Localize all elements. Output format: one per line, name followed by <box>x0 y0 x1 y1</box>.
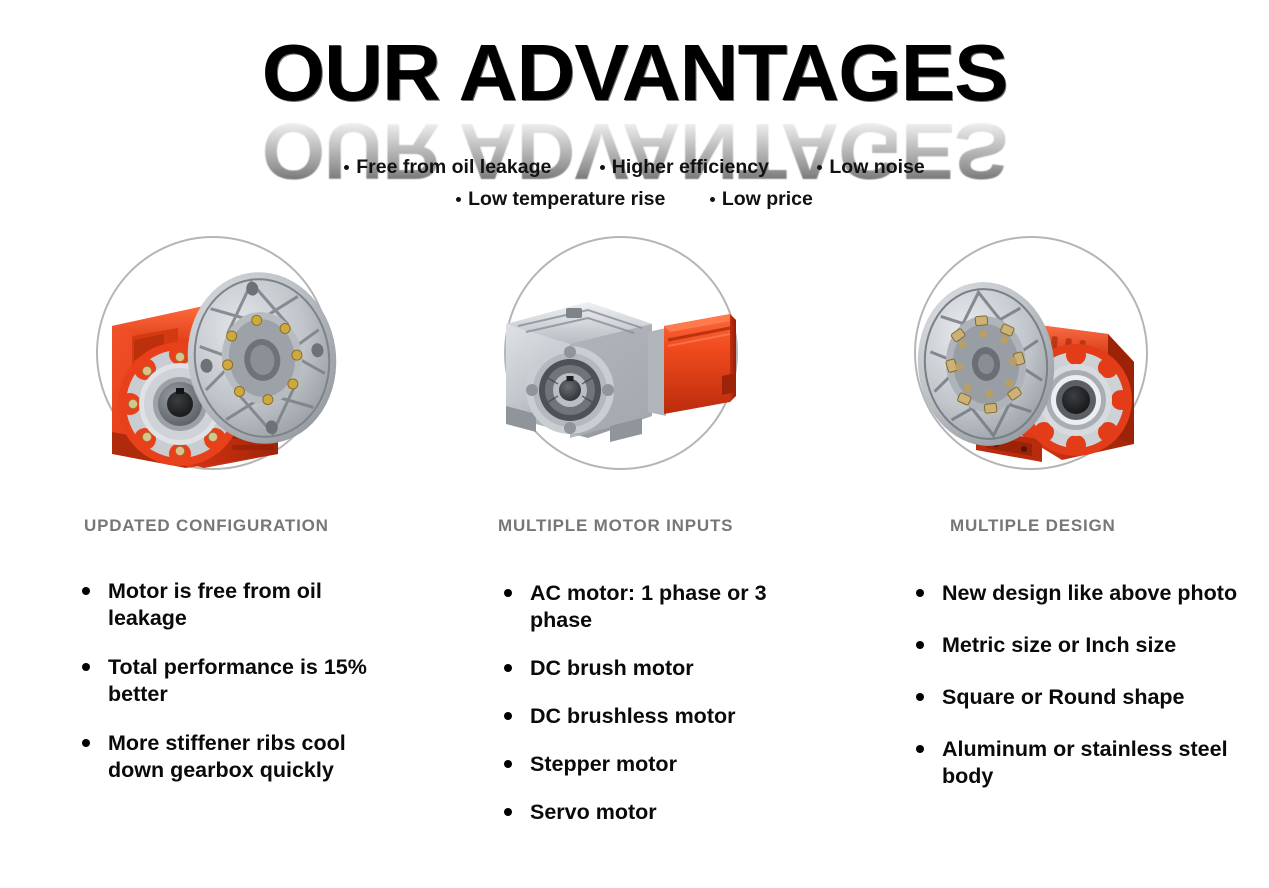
bullet-dot-icon <box>456 197 461 202</box>
bullet-marker-icon <box>504 589 512 597</box>
list-item: Total performance is 15% better <box>70 654 370 708</box>
silver-gearbox-with-red-motor-icon <box>492 280 742 450</box>
advantage-bullet-list: New design like above photo Metric size … <box>904 580 1269 815</box>
advantage-bullet-list: Motor is free from oil leakage Total per… <box>70 578 470 806</box>
bullet-marker-icon <box>916 641 924 649</box>
page-title-block: OUR ADVANTAGES <box>0 34 1269 112</box>
subtitle-label: Free from oil leakage <box>356 156 551 178</box>
subtitle-label: Higher efficiency <box>612 156 769 178</box>
list-item-label: Metric size or Inch size <box>942 632 1244 659</box>
bullet-marker-icon <box>82 587 90 595</box>
list-item: New design like above photo <box>904 580 1244 607</box>
bullet-marker-icon <box>82 663 90 671</box>
bullet-dot-icon <box>817 165 822 170</box>
subtitle-item-higher-efficiency: Higher efficiency <box>600 152 769 182</box>
subtitle-item-free-from-oil-leakage: Free from oil leakage <box>344 152 551 182</box>
page-title: OUR ADVANTAGES <box>262 34 1008 112</box>
subtitle-item-low-temperature-rise: Low temperature rise <box>456 184 665 214</box>
list-item: AC motor: 1 phase or 3 phase <box>492 580 792 634</box>
column-heading: MULTIPLE MOTOR INPUTS <box>498 516 733 536</box>
bullet-marker-icon <box>504 808 512 816</box>
red-gearbox-with-left-silver-flange-icon <box>912 268 1164 468</box>
bullet-dot-icon <box>600 165 605 170</box>
list-item: Square or Round shape <box>904 684 1244 711</box>
list-item-label: Aluminum or stainless steel body <box>942 736 1244 790</box>
list-item: Metric size or Inch size <box>904 632 1244 659</box>
list-item-label: Motor is free from oil leakage <box>108 578 370 632</box>
subtitle-label: Low noise <box>829 156 924 178</box>
list-item: Servo motor <box>492 799 792 826</box>
subtitle-label: Low temperature rise <box>468 188 665 210</box>
advantage-column-updated-configuration: UPDATED CONFIGURATION Motor is free from… <box>8 232 418 494</box>
list-item-label: Servo motor <box>530 799 792 826</box>
bullet-dot-icon <box>710 197 715 202</box>
product-image-frame <box>420 232 830 494</box>
subtitle-bullets: Free from oil leakage Higher efficiency … <box>0 152 1269 216</box>
list-item-label: DC brushless motor <box>530 703 792 730</box>
bullet-marker-icon <box>504 760 512 768</box>
list-item-label: Total performance is 15% better <box>108 654 370 708</box>
list-item: Stepper motor <box>492 751 792 778</box>
list-item-label: AC motor: 1 phase or 3 phase <box>530 580 792 634</box>
list-item-label: Square or Round shape <box>942 684 1244 711</box>
advantage-column-multiple-design: MULTIPLE DESIGN New design like above ph… <box>832 232 1242 494</box>
bullet-marker-icon <box>916 693 924 701</box>
bullet-dot-icon <box>344 165 349 170</box>
list-item: Motor is free from oil leakage <box>70 578 370 632</box>
column-heading: MULTIPLE DESIGN <box>950 516 1116 536</box>
column-heading: UPDATED CONFIGURATION <box>84 516 329 536</box>
subtitle-label: Low price <box>722 188 813 210</box>
advantage-column-multiple-motor-inputs: MULTIPLE MOTOR INPUTS AC motor: 1 phase … <box>420 232 830 494</box>
product-image-frame <box>8 232 418 494</box>
bullet-marker-icon <box>916 745 924 753</box>
subtitle-row-1: Free from oil leakage Higher efficiency … <box>0 152 1269 184</box>
list-item-label: New design like above photo <box>942 580 1244 607</box>
product-image-frame <box>832 232 1242 494</box>
list-item: More stiffener ribs cool down gearbox qu… <box>70 730 370 784</box>
subtitle-item-low-noise: Low noise <box>817 152 924 182</box>
subtitle-item-low-price: Low price <box>710 184 813 214</box>
list-item: DC brushless motor <box>492 703 792 730</box>
bullet-marker-icon <box>916 589 924 597</box>
list-item-label: More stiffener ribs cool down gearbox qu… <box>108 730 370 784</box>
bullet-marker-icon <box>82 739 90 747</box>
subtitle-row-2: Low temperature rise Low price <box>0 184 1269 216</box>
list-item-label: DC brush motor <box>530 655 792 682</box>
list-item-label: Stepper motor <box>530 751 792 778</box>
bullet-marker-icon <box>504 712 512 720</box>
list-item: Aluminum or stainless steel body <box>904 736 1244 790</box>
bullet-marker-icon <box>504 664 512 672</box>
advantages-slide: OUR ADVANTAGES OUR ADVANTAGES Free from … <box>0 0 1269 888</box>
red-worm-gearbox-with-silver-flange-icon <box>82 262 344 477</box>
list-item: DC brush motor <box>492 655 792 682</box>
advantage-bullet-list: AC motor: 1 phase or 3 phase DC brush mo… <box>492 580 892 847</box>
advantage-columns: UPDATED CONFIGURATION Motor is free from… <box>0 232 1269 872</box>
